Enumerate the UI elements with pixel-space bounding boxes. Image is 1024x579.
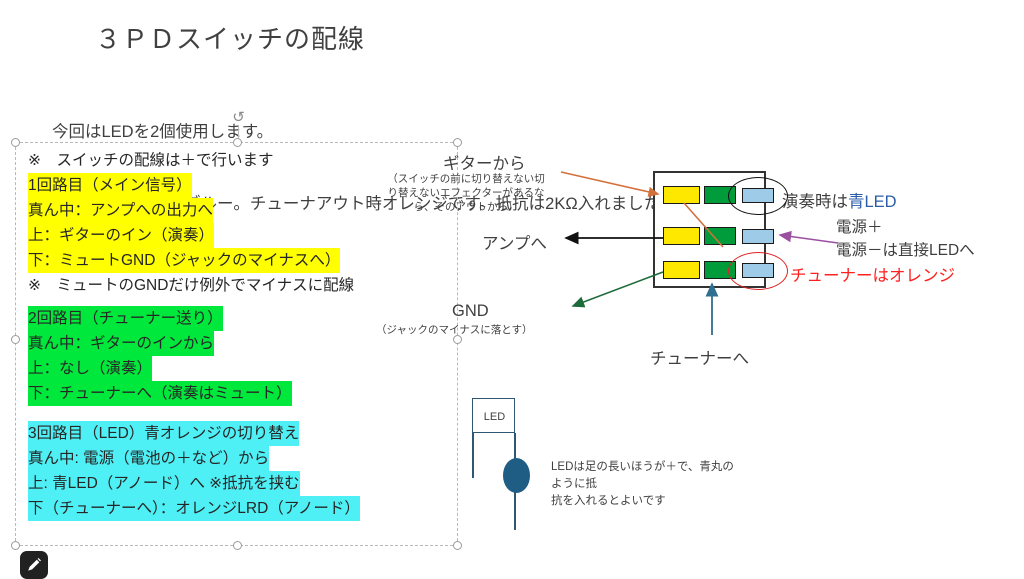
lug-yellow-bottom <box>663 261 700 279</box>
tuner-send-block-line-2: 真ん中：ギターのインから <box>28 331 214 356</box>
label-power-minus: 電源－は直接LEDへ <box>836 238 975 260</box>
label-tuner-orange: チューナーはオレンジ <box>790 262 955 286</box>
caption-gnd: （ジャックのマイナスに落とす） <box>376 323 532 337</box>
led-switch-block-line-1: 3回路目（LED）青オレンジの切り替え <box>28 421 299 446</box>
resize-handle-middle-left[interactable] <box>11 335 20 344</box>
resize-handle-top-left[interactable] <box>11 138 20 147</box>
resize-handle-bottom-left[interactable] <box>11 541 20 550</box>
led-switch-block: 3回路目（LED）青オレンジの切り替え真ん中: 電源（電池の＋など）から上: 青… <box>28 421 360 521</box>
main-signal-block-line-2: 1回路目（メイン信号） <box>28 173 192 198</box>
main-signal-block-line-4: 上：ギターのイン（演奏） <box>28 223 214 248</box>
led-wire-left <box>472 433 474 478</box>
slide-canvas: ３ＰＤスイッチの配線 今回はLEDを2個使用します。 私の例だと演奏時ブルー。チ… <box>0 0 1024 575</box>
black-ring-blue-top <box>728 177 788 215</box>
tuner-send-block: 2回路目（チューナー送り）真ん中：ギターのインから上：なし（演奏）下：チューナー… <box>28 306 292 406</box>
power-arrow <box>780 235 838 243</box>
label-blue-led-suffix: 青LED <box>848 193 897 211</box>
label-blue-led-when-playing: 演奏時は青LED <box>782 188 897 212</box>
led-wire-right-lower <box>514 490 516 530</box>
tuner-send-block-line-4: 下：チューナーへ（演奏はミュート） <box>28 381 292 406</box>
intro-line-1: 今回はLEDを2個使用します。 <box>52 120 774 144</box>
resize-handle-bottom-right[interactable] <box>453 541 462 550</box>
label-blue-led-prefix: 演奏時は <box>782 193 848 211</box>
label-gnd: GND <box>452 302 489 321</box>
label-guitar-from: ギターから <box>443 150 526 174</box>
led-symbol-box: LED <box>472 398 515 433</box>
resistor-blue-dot <box>503 458 530 493</box>
resize-handle-top-right[interactable] <box>453 138 462 147</box>
lug-green-middle <box>704 227 736 245</box>
label-to-amp: アンプへ <box>482 230 547 254</box>
lug-yellow-top <box>663 186 700 204</box>
led-symbol-label: LED <box>473 399 516 434</box>
page-title: ３ＰＤスイッチの配線 <box>95 22 365 56</box>
tuner-send-block-line-3: 上：なし（演奏） <box>28 356 152 381</box>
tuner-send-block-line-1: 2回路目（チューナー送り） <box>28 306 223 331</box>
resize-handle-top-center[interactable] <box>233 138 242 147</box>
rotate-handle-icon[interactable]: ↺ <box>231 110 246 125</box>
red-ring-blue-bottom <box>728 252 788 290</box>
label-to-tuner: チューナーへ <box>650 345 749 369</box>
lug-blue-middle <box>742 229 774 244</box>
led-switch-block-line-3: 上: 青LED（アノード）へ ※抵抗を挟む <box>28 471 300 496</box>
pen-glyph-icon <box>25 556 43 574</box>
main-signal-block-line-5: 下：ミュートGND（ジャックのマイナスへ） <box>28 248 340 273</box>
main-signal-block-line-1: ※ スイッチの配線は＋で行います <box>28 148 274 173</box>
led-switch-block-line-2: 真ん中: 電源（電池の＋など）から <box>28 446 269 471</box>
label-power-plus: 電源＋ <box>836 215 883 237</box>
main-signal-block: ※ スイッチの配線は＋で行います1回路目（メイン信号）真ん中：アンプへの出力へ上… <box>28 148 354 298</box>
power-leader <box>783 228 838 243</box>
resize-handle-bottom-center[interactable] <box>233 541 242 550</box>
caption-led: LEDは足の長いほうが＋で、青丸のように抵 抗を入れるとよいです <box>551 459 737 510</box>
led-wire-right-upper <box>514 433 516 460</box>
caption-guitar-from: （スイッチの前に切り替えない切 り替えないエフェクターがあるな ら、そのアウトか… <box>378 172 554 214</box>
gnd-arrow <box>573 272 663 306</box>
led-switch-block-line-4: 下（チューナーへ）：オレンジLRD（アノード） <box>28 496 360 521</box>
lug-yellow-middle <box>663 227 700 245</box>
main-signal-block-line-6: ※ ミュートのGNDだけ例外でマイナスに配線 <box>28 273 354 298</box>
main-signal-block-line-3: 真ん中：アンプへの出力へ <box>28 198 213 223</box>
